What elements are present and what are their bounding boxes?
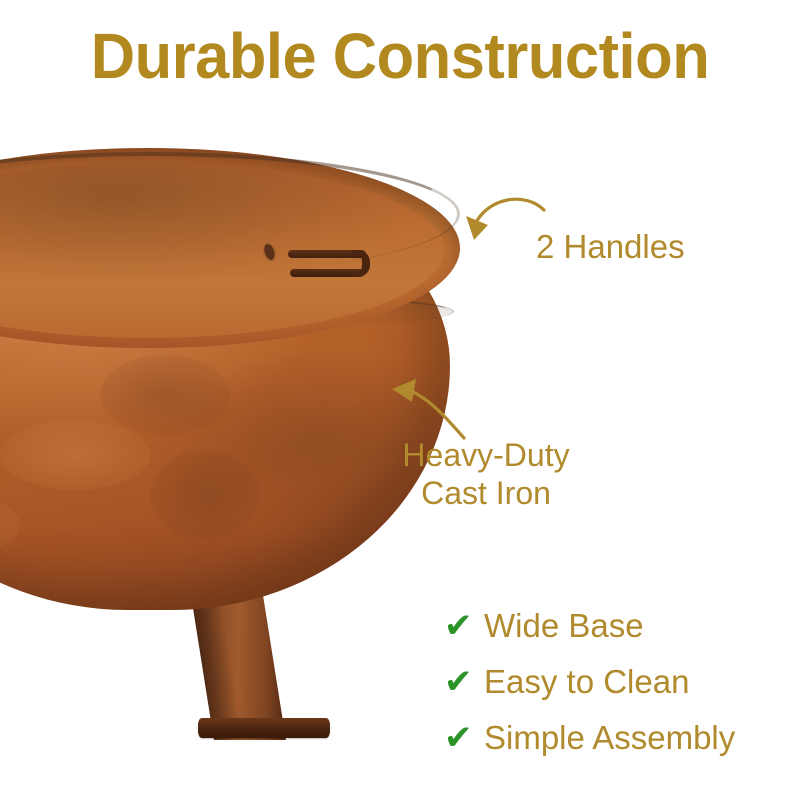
feature-label-simple-assembly: Simple Assembly bbox=[484, 719, 735, 757]
infographic-canvas: Durable Construction 2 bbox=[0, 0, 800, 800]
fire-pit-handle bbox=[288, 250, 378, 278]
curved-arrow-up-left-icon bbox=[384, 376, 479, 446]
page-title: Durable Construction bbox=[16, 22, 784, 91]
list-item: ✔ Simple Assembly bbox=[444, 710, 794, 766]
feature-label-wide-base: Wide Base bbox=[484, 607, 644, 645]
feature-label-easy-to-clean: Easy to Clean bbox=[484, 663, 689, 701]
rust-patch bbox=[0, 420, 150, 490]
list-item: ✔ Wide Base bbox=[444, 598, 794, 654]
rust-patch bbox=[150, 450, 260, 540]
check-icon: ✔ bbox=[444, 609, 484, 643]
rust-patch bbox=[0, 490, 20, 560]
handle-tip bbox=[352, 250, 370, 277]
callout-cast-iron-line1: Heavy-Duty bbox=[380, 437, 592, 475]
feature-list: ✔ Wide Base ✔ Easy to Clean ✔ Simple Ass… bbox=[444, 598, 794, 766]
list-item: ✔ Easy to Clean bbox=[444, 654, 794, 710]
leg-foot-plate bbox=[198, 718, 330, 738]
callout-label-handles: 2 Handles bbox=[536, 228, 685, 266]
check-icon: ✔ bbox=[444, 665, 484, 699]
check-icon: ✔ bbox=[444, 721, 484, 755]
rust-patch bbox=[100, 355, 230, 435]
callout-label-cast-iron: Heavy-Duty Cast Iron bbox=[380, 437, 592, 513]
callout-cast-iron-line2: Cast Iron bbox=[380, 475, 592, 513]
